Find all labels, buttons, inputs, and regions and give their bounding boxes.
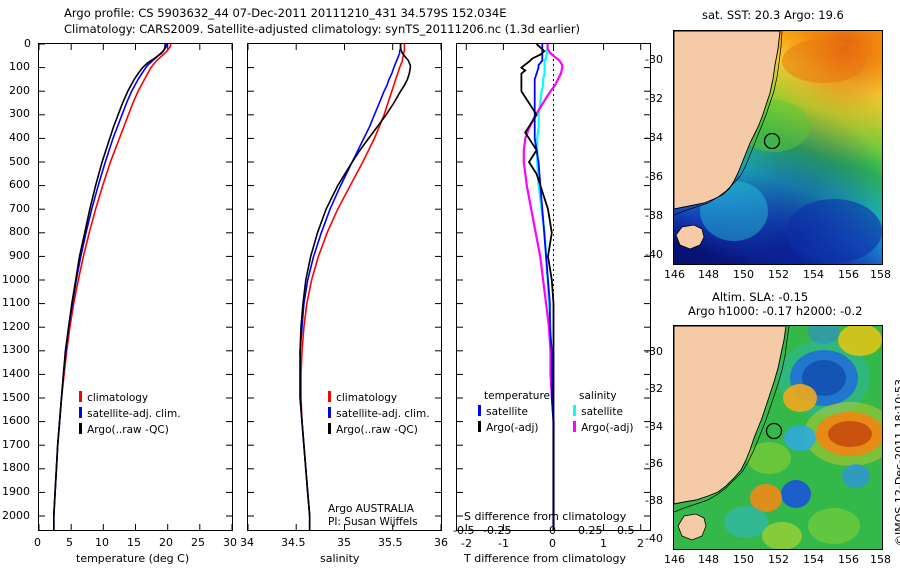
salinity-legend: climatology satellite-adj. clim. Argo(..… — [328, 389, 430, 437]
depth-tick-900: 900 — [9, 249, 30, 262]
sst-map — [673, 30, 883, 265]
legend-label-argo: Argo(..raw -QC) — [336, 424, 418, 436]
sst-ytick--38: -38 — [645, 209, 663, 222]
depth-tick-2000: 2000 — [2, 509, 30, 522]
temperature-xtick-25: 25 — [191, 536, 205, 549]
temperature-climatology-curve — [54, 44, 171, 530]
temperature-xtick-20: 20 — [159, 536, 173, 549]
temperature-argo-curve — [54, 44, 165, 530]
sdiff-xtick-0.5: 0.5 — [617, 524, 635, 537]
sst-ytick--40: -40 — [645, 248, 663, 261]
temperature-satellite-curve — [54, 44, 167, 530]
sla-map-title-line2: Argo h1000: -0.17 h2000: -0.2 — [688, 304, 862, 318]
legend-swatch-salinity-argo — [573, 421, 576, 432]
depth-tick-0: 0 — [24, 37, 31, 50]
depth-tick-1200: 1200 — [2, 320, 30, 333]
legend-swatch-salinity-satellite — [573, 405, 576, 416]
legend-swatch-satellite — [328, 407, 331, 418]
sdiff-xtick-0.25: 0.25 — [578, 524, 603, 537]
legend-swatch-argo — [79, 423, 82, 434]
salinity-satellite-diff-curve — [537, 44, 553, 530]
depth-tick-1000: 1000 — [2, 273, 30, 286]
salinity-xtick-34: 34 — [240, 536, 254, 549]
tdiff-xtick--2: -2 — [461, 537, 472, 550]
temperature-legend: climatology satellite-adj. clim. Argo(..… — [79, 389, 181, 437]
program-label: Argo AUSTRALIA — [328, 503, 414, 515]
sst-xtick-150: 150 — [733, 268, 754, 281]
depth-tick-1800: 1800 — [2, 461, 30, 474]
sla-xtick-158: 158 — [870, 553, 891, 566]
sla-ytick--40: -40 — [645, 532, 663, 545]
sst-map-title: sat. SST: 20.3 Argo: 19.6 — [702, 8, 844, 22]
temperature-difference-axis-label: T difference from climatology — [464, 552, 626, 565]
legend-swatch-climatology — [328, 391, 331, 402]
salinity-axis-label: salinity — [320, 552, 359, 565]
salinity-argo-diff-curve — [524, 44, 563, 530]
salinity-panel — [247, 43, 442, 531]
depth-tick-1500: 1500 — [2, 391, 30, 404]
sla-ytick--30: -30 — [645, 345, 663, 358]
legend-header-temperature: temperature — [484, 389, 550, 403]
sdiff-xtick--0.5: -0.5 — [453, 524, 474, 537]
depth-tick-1700: 1700 — [2, 438, 30, 451]
sla-xtick-152: 152 — [768, 553, 789, 566]
sst-ytick--34: -34 — [645, 131, 663, 144]
sst-map-canvas — [674, 31, 882, 264]
legend-label-climatology: climatology — [87, 392, 148, 404]
temperature-axis-label: temperature (deg C) — [76, 552, 189, 565]
legend-label-salinity-argo: Argo(-adj) — [581, 422, 633, 434]
difference-plot-area — [457, 44, 650, 530]
legend-header-salinity: salinity — [579, 389, 634, 403]
temperature-xtick-15: 15 — [127, 536, 141, 549]
legend-label-satellite: satellite-adj. clim. — [87, 408, 180, 420]
legend-label-argo: Argo(..raw -QC) — [87, 424, 169, 436]
legend-swatch-satellite — [79, 407, 82, 418]
sst-xtick-152: 152 — [768, 268, 789, 281]
legend-label-temperature-argo: Argo(-adj) — [486, 422, 538, 434]
sst-ytick--30: -30 — [645, 53, 663, 66]
legend-swatch-temperature-satellite — [478, 405, 481, 416]
sla-xtick-146: 146 — [664, 553, 685, 566]
sst-ytick--36: -36 — [645, 170, 663, 183]
sla-ytick--36: -36 — [645, 457, 663, 470]
temperature-xtick-5: 5 — [66, 536, 73, 549]
pi-label: PI: Susan Wijffels — [328, 516, 418, 528]
salinity-xtick-35: 35 — [337, 536, 351, 549]
temperature-plot-area — [39, 44, 232, 530]
page-title-line2: Climatology: CARS2009. Satellite-adjuste… — [64, 22, 580, 36]
salinity-xtick-36: 36 — [434, 536, 448, 549]
legend-label-salinity-satellite: satellite — [581, 406, 623, 418]
salinity-argo-curve — [300, 44, 410, 530]
tdiff-xtick-1: 1 — [600, 537, 607, 550]
legend-swatch-argo — [328, 423, 331, 434]
tdiff-xtick--1: -1 — [498, 537, 509, 550]
sla-xtick-148: 148 — [698, 553, 719, 566]
temperature-xtick-30: 30 — [223, 536, 237, 549]
depth-tick-1400: 1400 — [2, 367, 30, 380]
salinity-xtick-355: 35.5 — [378, 536, 403, 549]
depth-tick-300: 300 — [9, 107, 30, 120]
sst-xtick-158: 158 — [870, 268, 891, 281]
sla-map-title-line1: Altim. SLA: -0.15 — [712, 290, 808, 304]
sst-xtick-146: 146 — [664, 268, 685, 281]
tdiff-xtick-0: 0 — [549, 537, 556, 550]
depth-tick-200: 200 — [9, 84, 30, 97]
sla-ytick--34: -34 — [645, 420, 663, 433]
sst-ytick--32: -32 — [645, 92, 663, 105]
difference-legend-salinity: salinity satellite Argo(-adj) — [573, 389, 634, 435]
depth-tick-1100: 1100 — [2, 296, 30, 309]
legend-label-satellite: satellite-adj. clim. — [336, 408, 429, 420]
page-title-line1: Argo profile: CS 5903632_44 07-Dec-2011 … — [64, 6, 507, 20]
depth-tick-1600: 1600 — [2, 414, 30, 427]
salinity-xtick-345: 34.5 — [281, 536, 306, 549]
sla-ytick--38: -38 — [645, 494, 663, 507]
legend-label-climatology: climatology — [336, 392, 397, 404]
sla-map-canvas — [674, 326, 882, 549]
depth-tick-500: 500 — [9, 155, 30, 168]
temperature-xtick-0: 0 — [34, 536, 41, 549]
sla-xtick-150: 150 — [733, 553, 754, 566]
legend-label-temperature-satellite: satellite — [486, 406, 528, 418]
sdiff-xtick-0: 0 — [549, 524, 556, 537]
depth-tick-600: 600 — [9, 178, 30, 191]
depth-tick-1300: 1300 — [2, 343, 30, 356]
legend-swatch-climatology — [79, 391, 82, 402]
depth-tick-1900: 1900 — [2, 485, 30, 498]
sla-map — [673, 325, 883, 550]
temperature-xtick-10: 10 — [95, 536, 109, 549]
difference-legend: temperature satellite Argo(-adj) — [478, 389, 550, 435]
sla-ytick--32: -32 — [645, 382, 663, 395]
sla-xtick-156: 156 — [838, 553, 859, 566]
sst-xtick-148: 148 — [698, 268, 719, 281]
temperature-panel — [38, 43, 233, 531]
imos-credit: ©IMOS 12-Dec-2011 18:10:53 — [893, 379, 900, 546]
depth-tick-400: 400 — [9, 131, 30, 144]
salinity-difference-axis-label: S difference from climatology — [464, 510, 626, 523]
salinity-plot-area — [248, 44, 441, 530]
sst-xtick-156: 156 — [838, 268, 859, 281]
tdiff-xtick-2: 2 — [637, 537, 644, 550]
depth-tick-100: 100 — [9, 60, 30, 73]
depth-tick-700: 700 — [9, 202, 30, 215]
legend-swatch-temperature-argo — [478, 421, 481, 432]
sla-xtick-154: 154 — [803, 553, 824, 566]
sdiff-xtick--0.25: -0.25 — [483, 524, 511, 537]
difference-panel — [456, 43, 651, 531]
depth-tick-800: 800 — [9, 225, 30, 238]
salinity-climatology-curve — [301, 44, 404, 530]
sst-xtick-154: 154 — [803, 268, 824, 281]
